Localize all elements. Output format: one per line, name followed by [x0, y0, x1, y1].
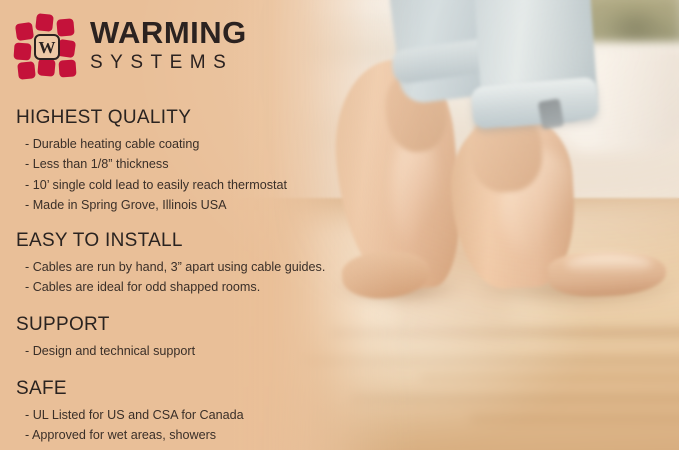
brand-wordmark: WARMING SYSTEMS: [90, 15, 247, 72]
section-heading: HIGHEST QUALITY: [16, 106, 416, 130]
section-heading: SUPPORT: [16, 313, 416, 337]
bullet-item: - UL Listed for US and CSA for Canada: [25, 405, 416, 425]
section-bullet-list: - Cables are run by hand, 3” apart using…: [16, 257, 416, 298]
bullet-item: - Cables are ideal for odd shapped rooms…: [25, 277, 416, 297]
bullet-item: - Design and technical support: [25, 341, 416, 361]
feature-section-highest-quality: HIGHEST QUALITY - Durable heating cable …: [16, 106, 416, 215]
feature-section-support: SUPPORT - Design and technical support: [16, 313, 416, 361]
brand-name-primary: WARMING: [90, 17, 247, 48]
logo-tile-icon: [37, 58, 55, 76]
bullet-item: - Made in Spring Grove, Illinois USA: [25, 195, 416, 215]
feature-section-easy-to-install: EASY TO INSTALL - Cables are run by hand…: [16, 229, 416, 298]
brand-logo: W WARMING SYSTEMS: [14, 10, 247, 76]
section-bullet-list: - Design and technical support: [16, 341, 416, 361]
logo-tile-icon: [58, 59, 76, 77]
logo-tile-icon: [56, 18, 74, 36]
brand-name-secondary: SYSTEMS: [90, 53, 247, 72]
logo-w-monogram: W: [34, 34, 60, 60]
bullet-item: - 10’ single cold lead to easily reach t…: [25, 175, 416, 195]
section-bullet-list: - UL Listed for US and CSA for Canada - …: [16, 405, 416, 446]
logo-tile-icon: [15, 22, 34, 41]
banner-content: W WARMING SYSTEMS HIGHEST QUALITY - Dura…: [0, 0, 679, 450]
logo-tile-icon: [17, 61, 36, 80]
logo-tile-icon: [35, 13, 54, 32]
feature-section-safe: SAFE - UL Listed for US and CSA for Cana…: [16, 377, 416, 446]
feature-sections: HIGHEST QUALITY - Durable heating cable …: [16, 106, 416, 450]
section-bullet-list: - Durable heating cable coating - Less t…: [16, 134, 416, 216]
bullet-item: - Durable heating cable coating: [25, 134, 416, 154]
bullet-item: - Cables are run by hand, 3” apart using…: [25, 257, 416, 277]
bullet-item: - Less than 1/8” thickness: [25, 154, 416, 174]
bullet-item: - Approved for wet areas, showers: [25, 425, 416, 445]
logo-tile-icon: [13, 42, 31, 60]
section-heading: SAFE: [16, 377, 416, 401]
product-feature-banner: W WARMING SYSTEMS HIGHEST QUALITY - Dura…: [0, 0, 679, 450]
logo-mark-icon: W: [14, 10, 78, 76]
section-heading: EASY TO INSTALL: [16, 229, 416, 253]
